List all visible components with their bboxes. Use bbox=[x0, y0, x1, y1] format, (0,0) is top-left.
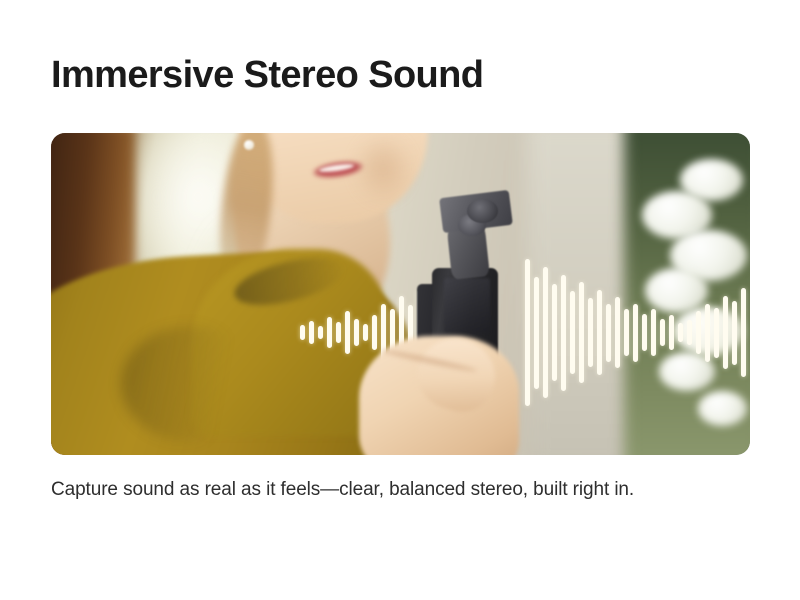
camera-lens bbox=[467, 199, 498, 223]
slide-root: Immersive Stereo Sound bbox=[0, 0, 800, 600]
earring bbox=[244, 140, 254, 150]
flower-blur bbox=[698, 391, 747, 426]
flower-blur bbox=[659, 352, 715, 391]
product-photo bbox=[51, 133, 750, 455]
caption-text: Capture sound as real as it feels—clear,… bbox=[51, 476, 691, 504]
page-title: Immersive Stereo Sound bbox=[51, 52, 483, 98]
sweater-fold bbox=[121, 326, 261, 442]
hero-image-card bbox=[51, 133, 750, 455]
flower-blur bbox=[673, 307, 743, 355]
camera-screen bbox=[444, 278, 490, 333]
